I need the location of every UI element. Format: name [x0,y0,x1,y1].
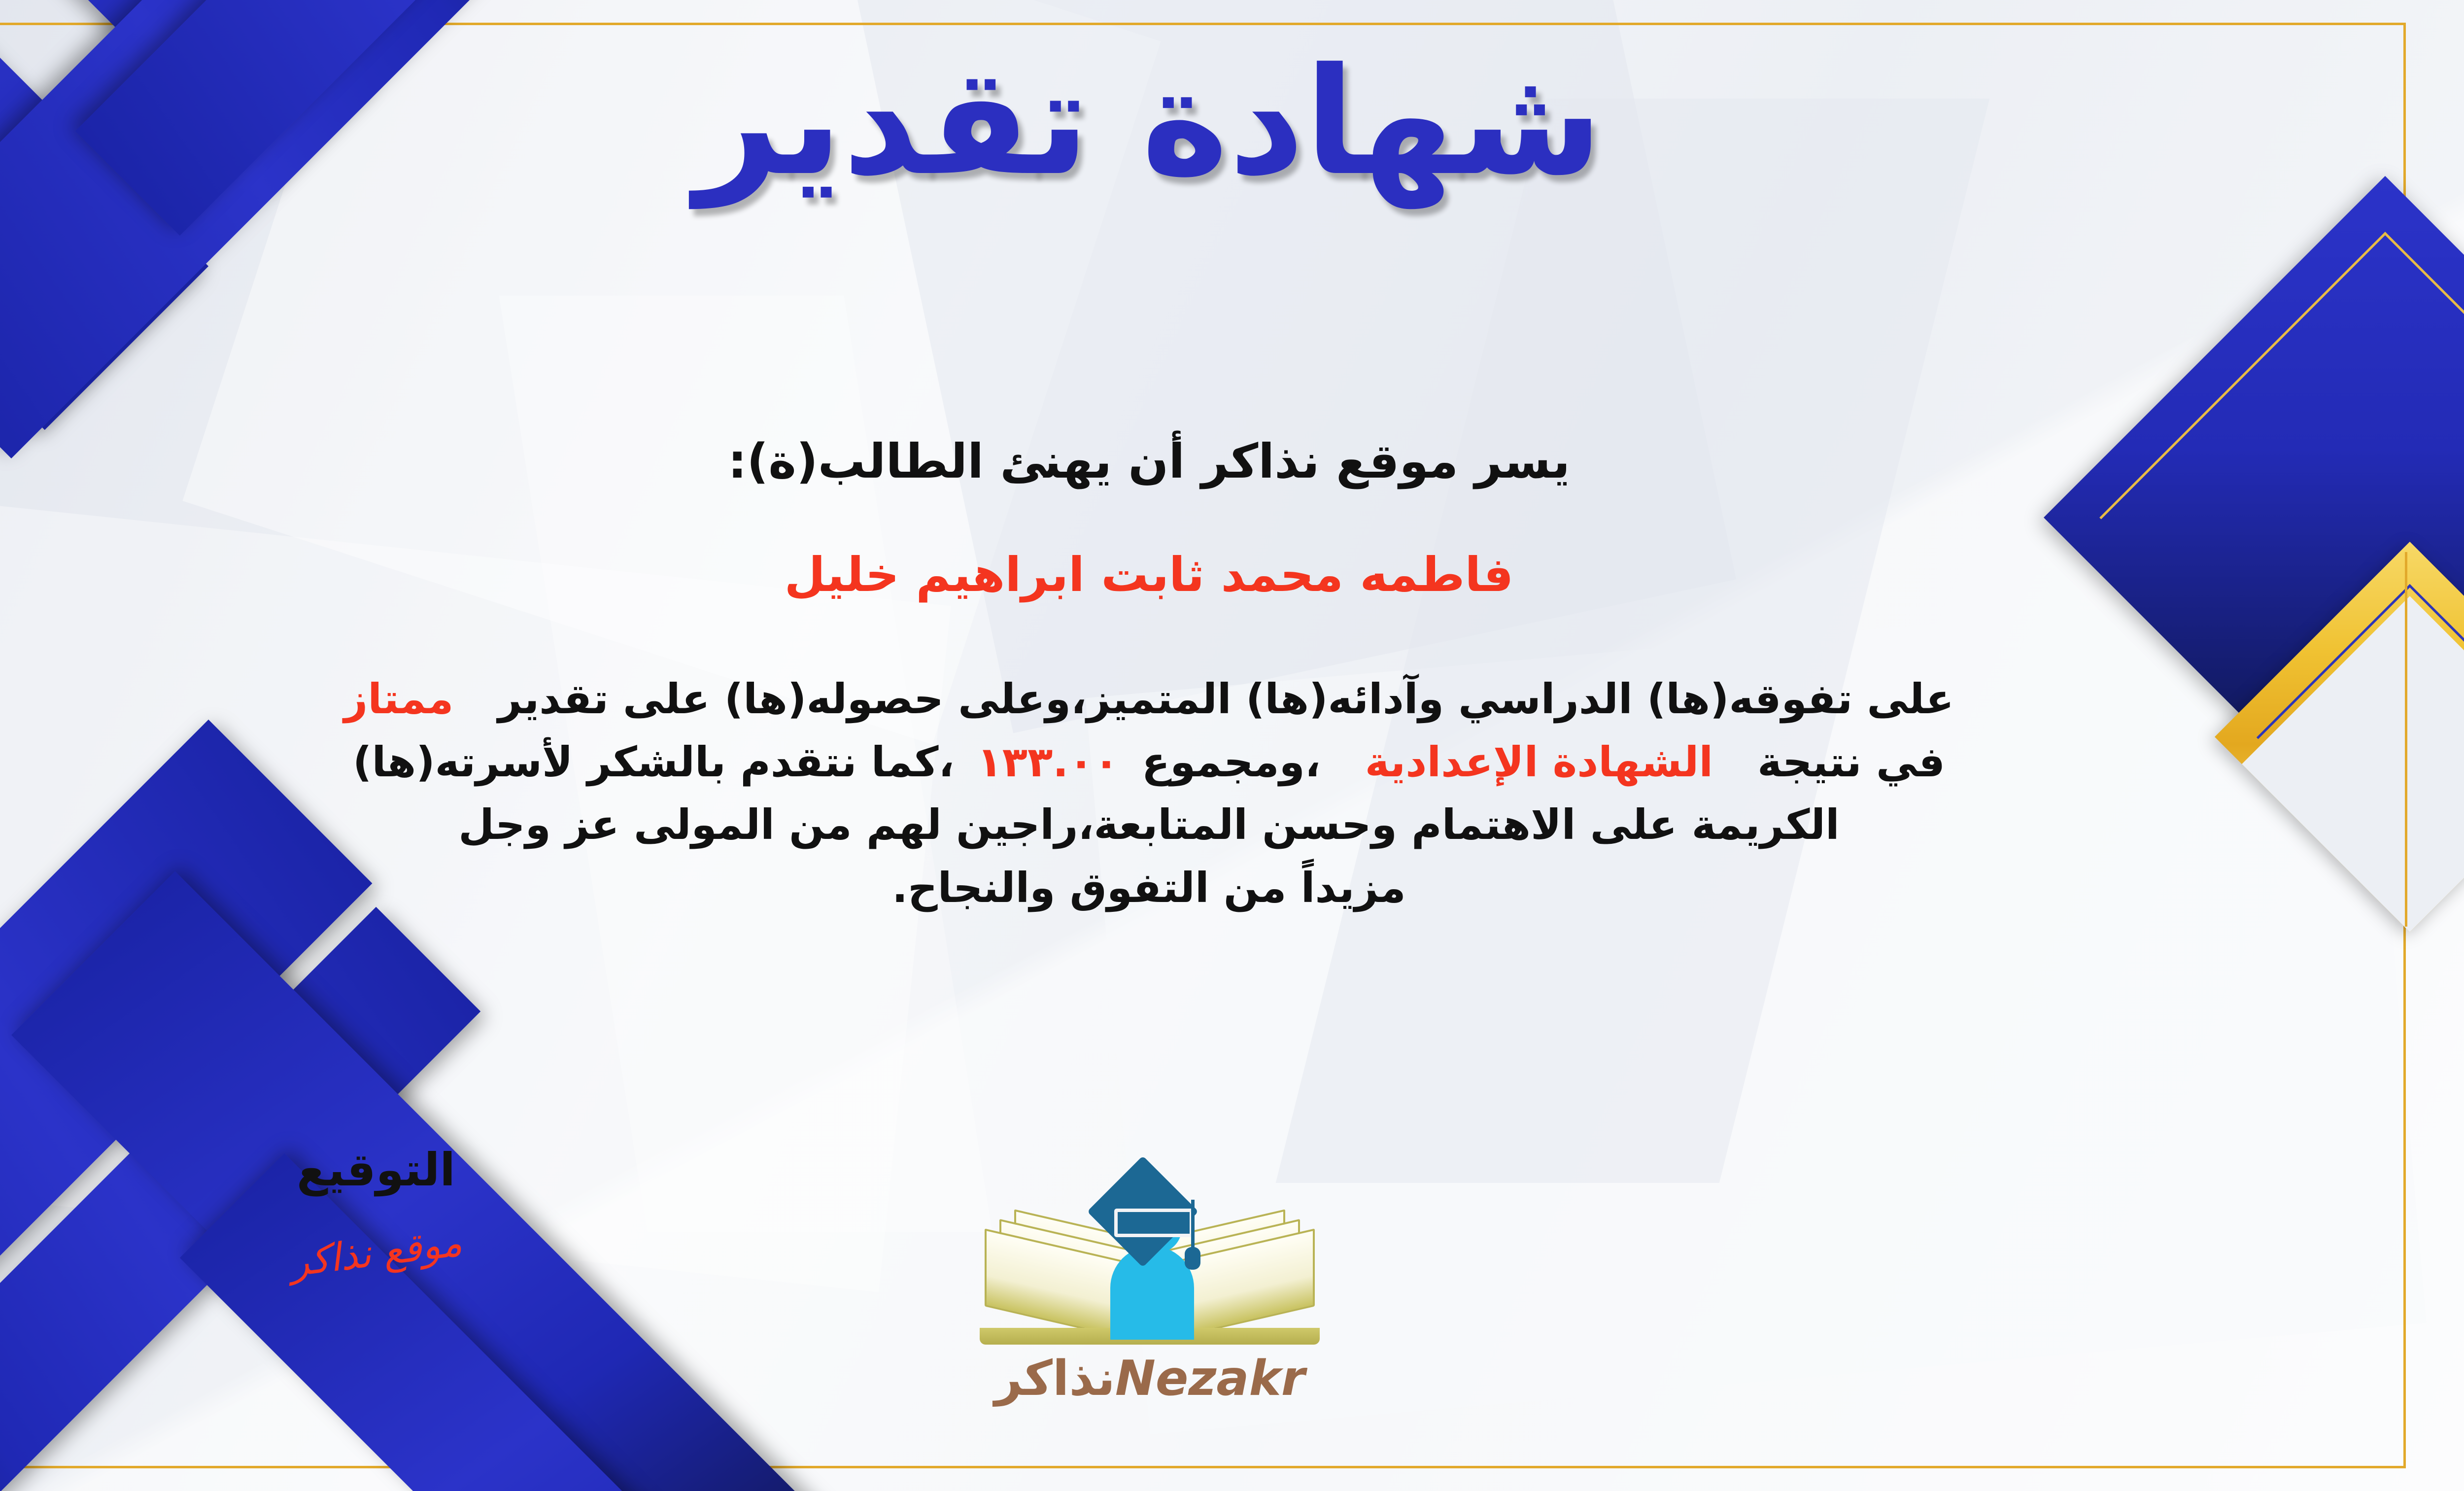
intro-text: يسر موقع نذاكر أن يهنئ الطالب(ة): [0,434,2326,489]
paragraph-line-2-suffix: ،كما نتقدم بالشكر لأسرته(ها) [353,738,954,786]
grade-value: ممتاز [344,675,454,723]
brand-name-arabic: نذاكر [994,1351,1115,1407]
exam-name: الشهادة الإعدادية [1365,738,1713,786]
student-name: فاطمه محمد ثابت ابراهيم خليل [0,547,2326,602]
cap-tassel [1185,1247,1200,1270]
brand-name: Nezakrنذاكر [962,1351,1337,1407]
cap-band [1114,1209,1193,1237]
graduate-book-icon [962,1134,1337,1346]
signature-block: التوقيع موقع نذاكر [238,1144,514,1275]
total-score: ١٣٣.٠٠ [977,738,1119,786]
paragraph-line-1-text: على تفوقه(ها) الدراسي وآدائه(ها) المتميز… [498,675,1954,723]
paragraph-line-2-mid: ،ومجموع [1142,738,1321,786]
certificate-paragraph: على تفوقه(ها) الدراسي وآدائه(ها) المتميز… [0,668,2361,920]
paragraph-line-2: في نتيجةالشهادة الإعدادية،ومجموع١٣٣.٠٠،ك… [0,731,2361,794]
signature-handwriting: موقع نذاكر [237,1214,516,1292]
paragraph-line-2-prefix: في نتيجة [1757,738,1945,786]
paragraph-line-3: الكريمة على الاهتمام وحسن المتابعة،راجين… [0,794,2361,857]
graduation-cap-icon [1095,1150,1211,1267]
certificate-canvas: شهادة تقدير يسر موقع نذاكر أن يهنئ الطال… [0,0,2464,1491]
paragraph-line-1: على تفوقه(ها) الدراسي وآدائه(ها) المتميز… [0,668,2361,731]
certificate-content: شهادة تقدير يسر موقع نذاكر أن يهنئ الطال… [0,0,2464,1491]
paragraph-line-4: مزيداً من التفوق والنجاح. [0,857,2361,920]
cap-tassel-cord [1191,1200,1195,1249]
certificate-title: شهادة تقدير [0,30,2464,214]
signature-label: التوقيع [238,1144,514,1196]
brand-logo: Nezakrنذاكر [962,1134,1337,1439]
brand-name-latin: Nezakr [1115,1351,1305,1407]
